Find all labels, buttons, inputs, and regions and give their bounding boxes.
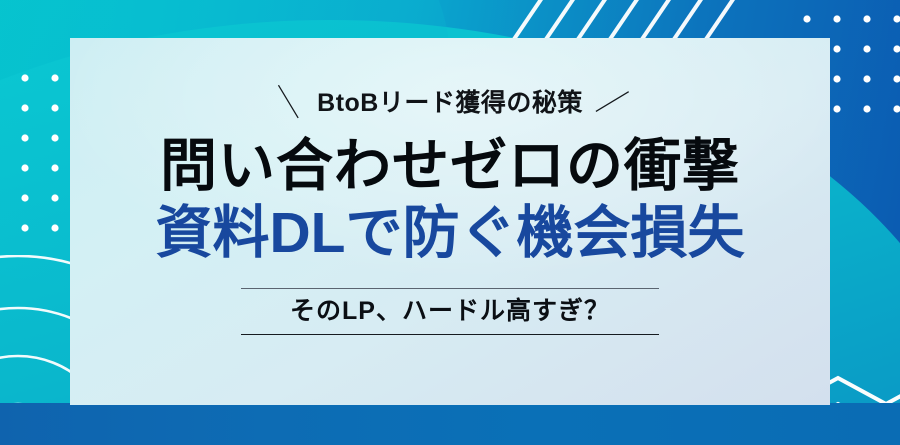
subtitle-rule-box: そのLP、ハードル高すぎ？ — [241, 288, 659, 336]
headline-line-1: 問い合わせゼロの衝撃 — [160, 134, 740, 199]
bottom-accent-band — [0, 403, 900, 445]
card-content: ＼ BtoBリード獲得の秘策 ／ 問い合わせゼロの衝撃 資料DLで防ぐ機会損失 … — [70, 38, 830, 405]
slash-right-icon: ／ — [593, 86, 630, 122]
eyebrow-label: ＼ BtoBリード獲得の秘策 ／ — [273, 88, 628, 118]
eyebrow-text: BtoBリード獲得の秘策 — [317, 91, 583, 116]
content-card: ＼ BtoBリード獲得の秘策 ／ 問い合わせゼロの衝撃 資料DLで防ぐ機会損失 … — [70, 38, 830, 405]
slash-left-icon: ＼ — [269, 86, 306, 122]
subtitle-text: そのLP、ハードル高すぎ？ — [290, 298, 610, 326]
banner-canvas: ＼ BtoBリード獲得の秘策 ／ 問い合わせゼロの衝撃 資料DLで防ぐ機会損失 … — [0, 0, 900, 445]
headline-line-2: 資料DLで防ぐ機会損失 — [156, 201, 745, 266]
